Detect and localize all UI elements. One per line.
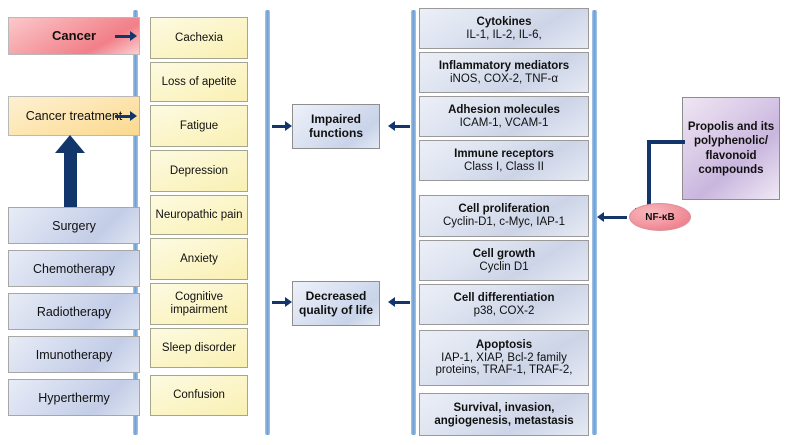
target-heading: Apoptosis: [476, 339, 532, 352]
symptom-label: Cognitive impairment: [151, 291, 247, 317]
propolis-box[interactable]: Propolis and its polyphenolic/ flavonoid…: [682, 97, 780, 200]
symptom-box-neuropathic-pain[interactable]: Neuropathic pain: [150, 195, 248, 235]
arrow-shaft: [394, 301, 410, 304]
arrow-shaft: [64, 151, 77, 207]
divider-line-2: [265, 10, 270, 435]
therapy-label: Hyperthermy: [38, 391, 110, 405]
symptom-label: Sleep disorder: [162, 342, 236, 355]
symptom-box-fatigue[interactable]: Fatigue: [150, 105, 248, 147]
therapy-box-surgery[interactable]: Surgery: [8, 207, 140, 244]
target-box-survival-invasion[interactable]: Survival, invasion, angiogenesis, metast…: [419, 393, 589, 436]
symptom-label: Depression: [170, 165, 228, 178]
target-box-inflammatory-mediators[interactable]: Inflammatory mediators iNOS, COX-2, TNF-…: [419, 52, 589, 93]
target-detail: Cyclin-D1, c-Myc, IAP-1: [443, 216, 565, 229]
cancer-label: Cancer: [52, 29, 96, 44]
cancer-treatment-label: Cancer treatment: [26, 109, 123, 123]
symptom-label: Confusion: [173, 389, 225, 402]
target-detail: IAP-1, XIAP, Bcl-2 family proteins, TRAF…: [422, 352, 586, 378]
target-heading: Cell growth: [473, 248, 536, 261]
arrow-head-left-icon: [597, 212, 604, 222]
arrow-head-left-icon: [388, 121, 395, 131]
therapy-label: Radiotherapy: [37, 305, 111, 319]
arrow-head-left-icon: [388, 297, 395, 307]
arrow-shaft: [603, 216, 627, 219]
symptom-label: Loss of apetite: [162, 76, 237, 89]
symptom-box-loss-of-apetite[interactable]: Loss of apetite: [150, 62, 248, 102]
target-box-immune-receptors[interactable]: Immune receptors Class I, Class II: [419, 140, 589, 181]
outcome-label: Decreased quality of life: [293, 290, 379, 317]
target-detail: IL-1, IL-2, IL-6,: [466, 29, 541, 42]
arrow-shaft: [394, 125, 410, 128]
arrow-head-right-icon: [130, 111, 137, 121]
symptom-box-confusion[interactable]: Confusion: [150, 375, 248, 416]
symptom-box-depression[interactable]: Depression: [150, 150, 248, 192]
therapy-to-treatment-arrow: [55, 135, 85, 207]
target-detail: iNOS, COX-2, TNF-α: [450, 73, 558, 86]
target-heading: Cytokines: [477, 16, 532, 29]
divider-line-3: [411, 10, 416, 435]
arrow-shaft: [115, 35, 131, 38]
therapy-box-radiotherapy[interactable]: Radiotherapy: [8, 293, 140, 330]
target-detail: Class I, Class II: [464, 161, 544, 174]
symptom-label: Neuropathic pain: [156, 209, 243, 222]
target-heading: Survival, invasion, angiogenesis, metast…: [422, 402, 586, 428]
outcome-label: Impaired functions: [293, 113, 379, 140]
arrow-shaft: [115, 115, 131, 118]
target-detail: p38, COX-2: [474, 305, 535, 318]
symptom-box-cachexia[interactable]: Cachexia: [150, 17, 248, 59]
target-box-apoptosis[interactable]: Apoptosis IAP-1, XIAP, Bcl-2 family prot…: [419, 330, 589, 386]
therapy-box-hyperthermy[interactable]: Hyperthermy: [8, 379, 140, 416]
therapy-label: Chemotherapy: [33, 262, 115, 276]
therapy-box-imunotherapy[interactable]: Imunotherapy: [8, 336, 140, 373]
connector-top-segment: [647, 140, 685, 144]
symptom-label: Fatigue: [180, 120, 218, 133]
target-heading: Inflammatory mediators: [439, 60, 569, 73]
divider-line-4: [592, 10, 597, 435]
nfkb-node[interactable]: NF-κB: [629, 203, 691, 231]
symptom-box-sleep-disorder[interactable]: Sleep disorder: [150, 328, 248, 368]
target-box-cell-differentiation[interactable]: Cell differentiation p38, COX-2: [419, 284, 589, 325]
therapy-label: Imunotherapy: [36, 348, 112, 362]
arrow-shaft: [272, 125, 286, 128]
symptom-box-anxiety[interactable]: Anxiety: [150, 238, 248, 280]
outcome-box-decreased-quality-of-life[interactable]: Decreased quality of life: [292, 281, 380, 326]
target-box-cytokines[interactable]: Cytokines IL-1, IL-2, IL-6,: [419, 8, 589, 49]
diagram-canvas: Cancer Cancer treatment Surgery Chemothe…: [0, 0, 788, 445]
nfkb-label: NF-κB: [645, 212, 674, 223]
propolis-label: Propolis and its polyphenolic/ flavonoid…: [683, 120, 779, 178]
target-heading: Cell proliferation: [458, 203, 549, 216]
therapy-label: Surgery: [52, 219, 96, 233]
symptom-box-cognitive-impairment[interactable]: Cognitive impairment: [150, 283, 248, 325]
target-box-cell-growth[interactable]: Cell growth Cyclin D1: [419, 240, 589, 281]
arrow-head-right-icon: [130, 31, 137, 41]
target-box-cell-proliferation[interactable]: Cell proliferation Cyclin-D1, c-Myc, IAP…: [419, 195, 589, 237]
therapy-box-chemotherapy[interactable]: Chemotherapy: [8, 250, 140, 287]
target-heading: Cell differentiation: [454, 292, 555, 305]
symptom-label: Cachexia: [175, 32, 223, 45]
target-heading: Adhesion molecules: [448, 104, 560, 117]
connector-vertical-segment: [647, 140, 651, 212]
symptom-label: Anxiety: [180, 253, 218, 266]
arrow-shaft: [272, 301, 286, 304]
target-detail: ICAM-1, VCAM-1: [460, 117, 549, 130]
arrow-head-right-icon: [285, 297, 292, 307]
target-detail: Cyclin D1: [479, 261, 528, 274]
target-box-adhesion-molecules[interactable]: Adhesion molecules ICAM-1, VCAM-1: [419, 96, 589, 137]
target-heading: Immune receptors: [454, 148, 554, 161]
outcome-box-impaired-functions[interactable]: Impaired functions: [292, 104, 380, 149]
arrow-head-right-icon: [285, 121, 292, 131]
